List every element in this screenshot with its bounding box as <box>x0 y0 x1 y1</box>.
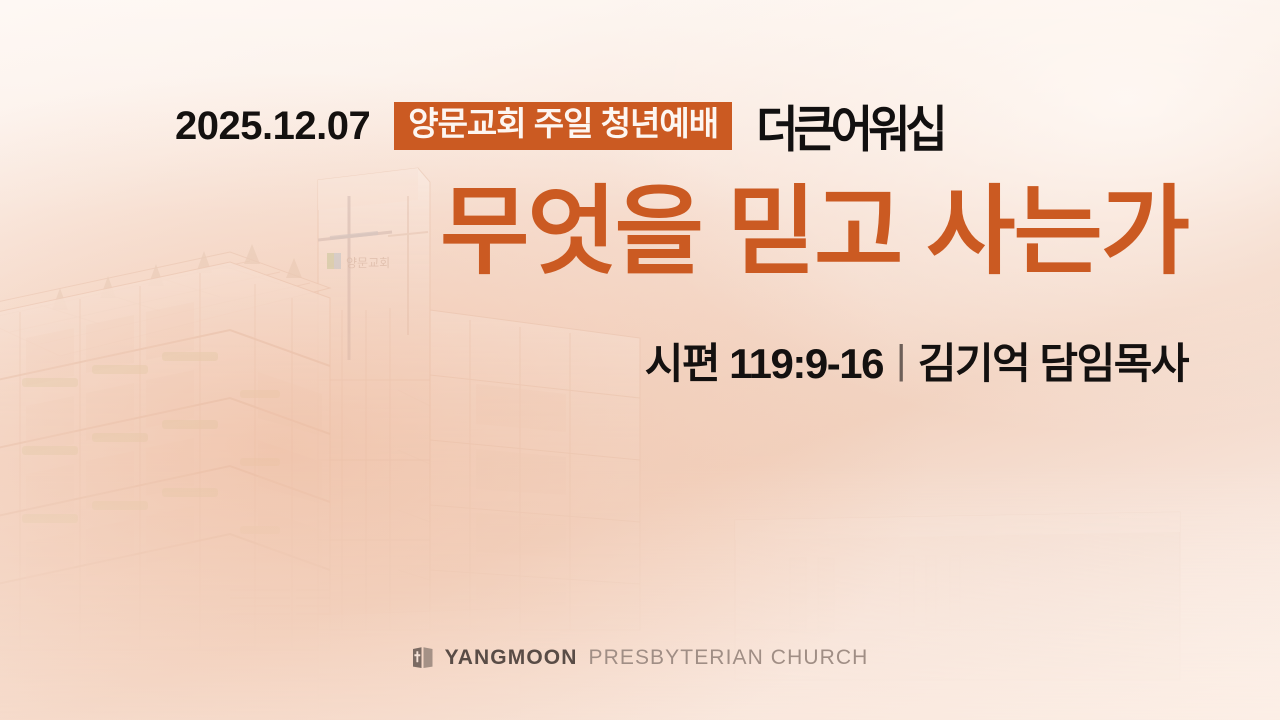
svg-text:양문교회: 양문교회 <box>346 256 390 270</box>
sermon-title-slide: 양문교회 <box>0 0 1280 720</box>
footer-church-subtitle: PRESBYTERIAN CHURCH <box>588 646 868 670</box>
tower-sign: 양문교회 <box>327 253 390 270</box>
footer-church-name: YANGMOON <box>445 646 578 670</box>
sermon-title: 무엇을 믿고 사는가 <box>440 178 1188 287</box>
church-footer-lockup: YANGMOON PRESBYTERIAN CHURCH <box>0 646 1280 670</box>
service-badge: 양문교회 주일 청년예배 <box>394 102 732 150</box>
speaker-name: 김기억 담임목사 <box>918 330 1188 391</box>
worship-wordmark: 더큰어워십 <box>756 90 943 161</box>
slide-header: 2025.12.07 양문교회 주일 청년예배 더큰어워십 <box>175 93 943 159</box>
subtitle-separator: | <box>896 338 905 383</box>
open-bible-cross-icon <box>412 646 434 670</box>
sermon-subtitle: 시편 119:9-16 | 김기억 담임목사 <box>645 330 1188 391</box>
scripture-reference: 시편 119:9-16 <box>645 330 883 391</box>
service-date: 2025.12.07 <box>175 104 370 149</box>
